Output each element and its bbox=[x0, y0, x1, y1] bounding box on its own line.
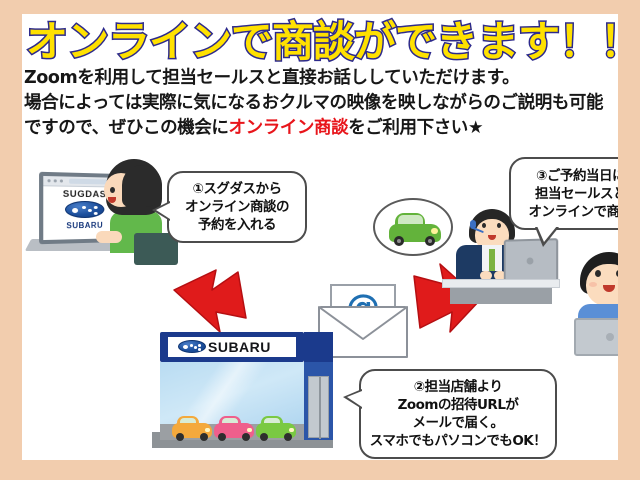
page-title: オンラインで商談ができます！！ bbox=[26, 18, 616, 66]
laptop-logo-icon bbox=[606, 333, 614, 341]
car-wheel bbox=[394, 236, 404, 246]
car-wheel bbox=[260, 433, 268, 441]
intro-line-3-pre: ですので、ぜひこの機会に bbox=[24, 118, 229, 138]
customer-eye bbox=[616, 270, 618, 277]
dealership-sign: SUBARU bbox=[160, 332, 304, 362]
car-wheel bbox=[242, 433, 250, 441]
callout-step-2-line-3: メールで届く。 bbox=[413, 414, 504, 432]
car-headlight bbox=[247, 428, 252, 432]
person-eye bbox=[110, 187, 115, 193]
entrance-door bbox=[308, 376, 329, 438]
car-headlight bbox=[205, 428, 210, 432]
callout-step-3: ③ご予約当日に 担当セールスと オンラインで商談 bbox=[509, 157, 618, 230]
callout-step-1-line-2: オンライン商談の bbox=[185, 198, 289, 216]
car-wheel bbox=[425, 236, 435, 246]
customer-laptop bbox=[574, 318, 618, 356]
showroom-car-orange bbox=[172, 416, 212, 440]
callout-step-3-line-3: オンラインで商談 bbox=[529, 203, 619, 221]
illustration-dealership: SUBARU bbox=[152, 332, 337, 457]
car-headlight bbox=[431, 228, 438, 234]
dealership-sign-plate: SUBARU bbox=[168, 337, 296, 357]
arrow-step1-to-dealership bbox=[172, 264, 252, 340]
dealership-sign-text: SUBARU bbox=[208, 339, 271, 355]
thought-bubble-car bbox=[373, 198, 453, 256]
callout-step-3-line-2: 担当セールスと bbox=[535, 185, 618, 203]
callout-step-2-line-1: ②担当店舗より bbox=[414, 378, 503, 396]
intro-paragraph: Zoomを利用して担当セールスと直接お話ししていただけます。 場合によっては実際… bbox=[24, 66, 616, 141]
browser-dot bbox=[47, 179, 50, 182]
person-arm bbox=[96, 231, 122, 243]
bubble-tail-inner bbox=[156, 203, 170, 219]
bubble-tail-inner bbox=[347, 391, 362, 407]
callout-step-2-line-4: スマホでもパソコンでもOK！ bbox=[370, 432, 547, 450]
intro-line-1: Zoomを利用して担当セールスと直接お話ししていただけます。 bbox=[24, 66, 616, 91]
callout-step-1-line-3: 予約を入れる bbox=[198, 216, 276, 234]
poster-frame: オンラインで商談ができます！！ Zoomを利用して担当セールスと直接お話ししてい… bbox=[0, 0, 640, 480]
showroom-car-pink bbox=[214, 416, 254, 440]
callout-step-3-line-1: ③ご予約当日に bbox=[536, 167, 618, 185]
browser-dot bbox=[60, 179, 63, 182]
car-headlight bbox=[289, 428, 294, 432]
sales-rep-eye bbox=[497, 223, 501, 228]
laptop-logo-icon bbox=[527, 257, 534, 264]
customer-eye bbox=[595, 270, 601, 277]
dealership-entrance bbox=[304, 362, 333, 440]
car-wheel bbox=[176, 433, 184, 441]
subaru-logo-icon bbox=[178, 340, 206, 353]
sales-rep-tie bbox=[489, 249, 495, 271]
intro-line-3: ですので、ぜひこの機会にオンライン商談をご利用下さい★ bbox=[24, 116, 616, 141]
illustration-customer-with-laptop bbox=[570, 252, 618, 360]
callout-step-2: ②担当店舗より Zoomの招待URLが メールで届く。 スマホでもパソコンでもO… bbox=[359, 369, 557, 459]
intro-highlight-online-shodan: オンライン商談 bbox=[229, 118, 349, 138]
sales-rep-eye bbox=[482, 223, 486, 228]
dealership-sign-side bbox=[304, 332, 333, 362]
intro-line-3-post: をご利用下さい★ bbox=[348, 118, 483, 138]
desk-surface bbox=[442, 279, 560, 288]
customer-cheek bbox=[589, 282, 597, 287]
intro-line-2: 場合によっては実際に気になるおクルマの映像を映しながらのご説明も可能 bbox=[24, 91, 616, 116]
green-car-icon bbox=[389, 213, 441, 245]
poster-canvas: オンラインで商談ができます！！ Zoomを利用して担当セールスと直接お話ししてい… bbox=[22, 14, 618, 460]
callout-step-2-line-2: Zoomの招待URLが bbox=[398, 396, 519, 414]
callout-step-1-line-1: ①スグダスから bbox=[193, 180, 282, 198]
bubble-tail-inner bbox=[537, 226, 557, 242]
subaru-logo-icon bbox=[65, 201, 104, 218]
car-wheel bbox=[284, 433, 292, 441]
door-split-line bbox=[319, 377, 321, 439]
car-wheel bbox=[218, 433, 226, 441]
desk-front bbox=[450, 288, 552, 304]
car-wheel bbox=[200, 433, 208, 441]
browser-dot bbox=[54, 179, 57, 182]
showroom-car-green bbox=[256, 416, 296, 440]
callout-step-1: ①スグダスから オンライン商談の 予約を入れる bbox=[167, 171, 307, 243]
